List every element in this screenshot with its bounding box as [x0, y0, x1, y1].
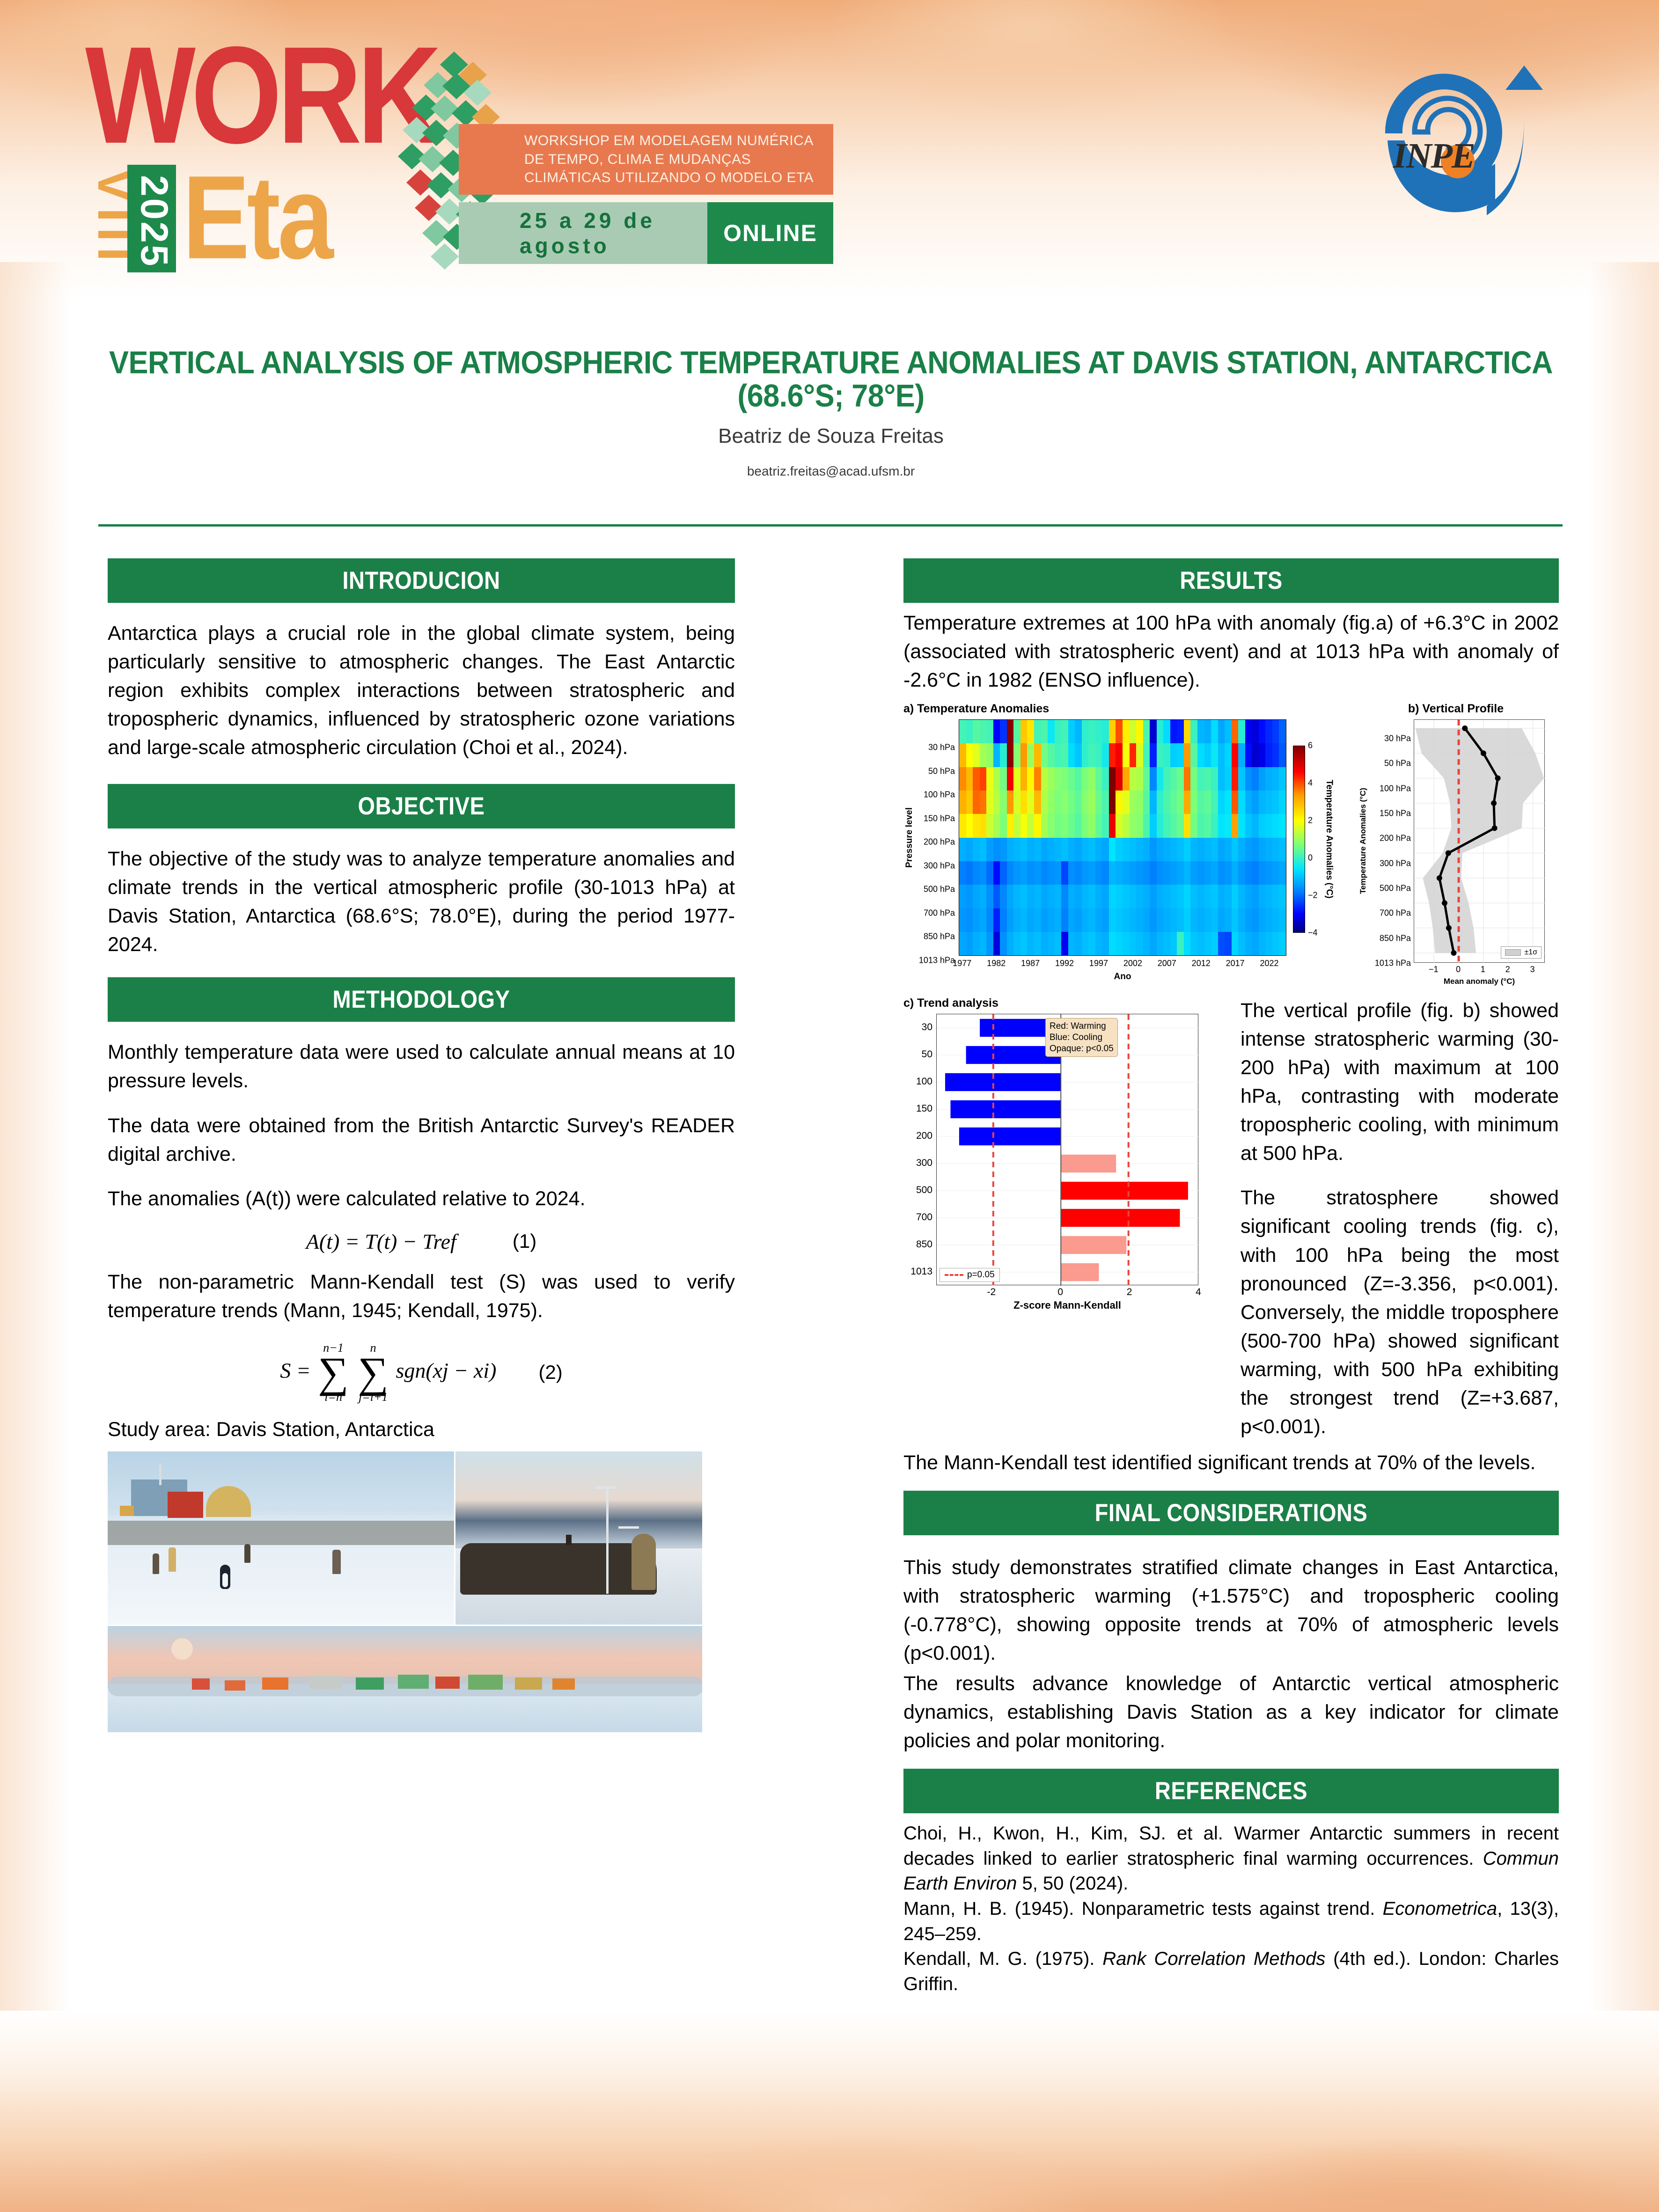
- vprofile-marker: [1462, 725, 1468, 731]
- trend-y-tick: 100: [916, 1076, 932, 1087]
- heatmap-cell: [1082, 791, 1089, 814]
- introduction-body: Antarctica plays a crucial role in the g…: [108, 619, 735, 762]
- heatmap-cell: [973, 743, 980, 767]
- heatmap-cell: [1034, 838, 1041, 861]
- heatmap-cell: [1116, 791, 1123, 814]
- heatmap-cell: [1061, 838, 1068, 861]
- logo-year-badge: 2025: [127, 165, 176, 272]
- heatmap-cell: [1225, 814, 1232, 837]
- heatmap-cell: [1259, 720, 1266, 743]
- heatmap-cell: [1163, 767, 1170, 791]
- figure-c-xlabel: Z-score Mann-Kendall: [936, 1299, 1198, 1311]
- heatmap-cell: [1075, 743, 1082, 767]
- heatmap-cell: [993, 743, 1000, 767]
- heatmap-cell: [1102, 861, 1109, 885]
- heatmap-cell: [1048, 720, 1055, 743]
- objective-body: The objective of the study was to analyz…: [108, 845, 735, 959]
- heatmap-cell: [1041, 908, 1048, 932]
- heatmap-cell: [1211, 743, 1218, 767]
- heatmap-cell: [1143, 838, 1150, 861]
- heatmap-cell: [1068, 767, 1075, 791]
- heatmap-cell: [1000, 720, 1007, 743]
- heatmap-cell: [1136, 720, 1143, 743]
- heatmap-cell: [1013, 791, 1020, 814]
- heatmap-cell: [1204, 791, 1211, 814]
- trend-bar: [959, 1128, 1061, 1145]
- heatmap-cell: [1259, 908, 1266, 932]
- heatmap-cell: [1020, 885, 1028, 908]
- figure-b-legend-label: ±1σ: [1524, 948, 1537, 957]
- heatmap-cell: [1123, 767, 1130, 791]
- heatmap-cell: [966, 720, 973, 743]
- heatmap-cell: [1013, 885, 1020, 908]
- heatmap-cell: [1197, 908, 1204, 932]
- heatmap-cell: [1252, 767, 1259, 791]
- right-column: RESULTS Temperature extremes at 100 hPa …: [903, 561, 1559, 1997]
- heatmap-cell: [1130, 767, 1137, 791]
- heatmap-cell: [1143, 720, 1150, 743]
- heatmap-cell: [1150, 720, 1157, 743]
- heatmap-cell: [1088, 838, 1095, 861]
- heatmap-cell: [1265, 861, 1272, 885]
- background-bottom-watercolor: [0, 2011, 1659, 2212]
- heatmap-cell: [1000, 838, 1007, 861]
- heatmap-cell: [1027, 861, 1034, 885]
- heatmap-cell: [1245, 908, 1252, 932]
- heatmap-cell: [1150, 743, 1157, 767]
- heatmap-cell: [1034, 743, 1041, 767]
- vprofile-marker: [1437, 875, 1442, 881]
- heatmap-cell: [1116, 838, 1123, 861]
- heatmap-cell: [1184, 932, 1191, 955]
- figure-a-ylabel: Pressure level: [903, 719, 916, 956]
- heatmap-cell: [1225, 838, 1232, 861]
- heatmap-cell: [1252, 885, 1259, 908]
- heatmap-cell: [1157, 814, 1164, 837]
- heatmap-cell: [1075, 720, 1082, 743]
- heatmap-cell: [1123, 908, 1130, 932]
- trend-y-tick: 150: [916, 1103, 932, 1114]
- heatmap-cell: [1075, 814, 1082, 837]
- heatmap-cell: [1190, 743, 1197, 767]
- heatmap-cell: [1163, 814, 1170, 837]
- heatmap-cell: [993, 908, 1000, 932]
- heatmap-cell: [1055, 791, 1062, 814]
- vprofile-marker: [1446, 925, 1452, 931]
- heatmap-cell: [1013, 814, 1020, 837]
- heatmap-cell: [993, 885, 1000, 908]
- heatmap-cell: [1123, 743, 1130, 767]
- heatmap-cell: [1163, 720, 1170, 743]
- heatmap-cell: [1157, 838, 1164, 861]
- heatmap-cell: [1061, 861, 1068, 885]
- heatmap-cell: [1232, 791, 1239, 814]
- heatmap-cell: [1007, 767, 1014, 791]
- heatmap-cell: [980, 885, 987, 908]
- heatmap-cell: [1272, 861, 1279, 885]
- heatmap-cell: [1143, 791, 1150, 814]
- heatmap-cell: [1157, 720, 1164, 743]
- heatmap-cell: [1000, 791, 1007, 814]
- sigma-glyph-2: ∑: [358, 1355, 389, 1390]
- heatmap-cell: [1123, 861, 1130, 885]
- heatmap-cell: [1020, 908, 1028, 932]
- heatmap-cell: [1272, 720, 1279, 743]
- heatmap-cell: [1013, 908, 1020, 932]
- vprofile-x-tick: 3: [1530, 965, 1535, 974]
- heatmap-cell: [1265, 814, 1272, 837]
- trend-y-tick: 1013: [910, 1266, 932, 1277]
- figure-c-y-ticks: 30501001502003005007008501013: [903, 1014, 936, 1285]
- heatmap-x-tick: 1982: [987, 959, 1006, 968]
- heatmap-cell: [993, 861, 1000, 885]
- heatmap-cell: [1259, 838, 1266, 861]
- pvalue-dashed-line-swatch: [945, 1274, 963, 1276]
- heatmap-cell: [1123, 814, 1130, 837]
- heatmap-cell: [1211, 720, 1218, 743]
- heatmap-cell: [1225, 908, 1232, 932]
- heatmap-cell: [1082, 861, 1089, 885]
- heatmap-cell: [1177, 838, 1184, 861]
- vprofile-x-tick: 0: [1456, 965, 1461, 974]
- heatmap-cell: [1252, 908, 1259, 932]
- vprofile-marker: [1446, 850, 1451, 856]
- results-paragraph-4: The Mann-Kendall test identified signifi…: [903, 1449, 1559, 1477]
- heatmap-cell: [1136, 885, 1143, 908]
- heatmap-cell: [1109, 885, 1116, 908]
- heatmap-cell: [1116, 861, 1123, 885]
- vprofile-marker: [1495, 776, 1501, 781]
- heatmap-cell: [1130, 814, 1137, 837]
- heatmap-cell: [1259, 767, 1266, 791]
- heatmap-cell: [1259, 932, 1266, 955]
- heatmap-cell: [959, 838, 966, 861]
- reference-1-part-a: Choi, H., Kwon, H., Kim, SJ. et al. Warm…: [903, 1823, 1559, 1869]
- heatmap-cell: [1245, 767, 1252, 791]
- heatmap-cell: [1041, 720, 1048, 743]
- heatmap-y-tick: 150 hPa: [924, 813, 955, 823]
- heatmap-cell: [973, 720, 980, 743]
- heatmap-cell: [986, 743, 993, 767]
- heatmap-cell: [1225, 720, 1232, 743]
- heatmap-cell: [1095, 743, 1102, 767]
- heatmap-cell: [1068, 743, 1075, 767]
- heatmap-cell: [1055, 908, 1062, 932]
- heatmap-row: [959, 791, 1286, 814]
- heatmap-cell: [1245, 885, 1252, 908]
- heatmap-cell: [1055, 743, 1062, 767]
- figure-c-plot-area: Red: Warming Blue: Cooling Opaque: p<0.0…: [936, 1014, 1198, 1285]
- heatmap-cell: [1163, 838, 1170, 861]
- heatmap-cell: [1150, 814, 1157, 837]
- heatmap-cell: [1143, 885, 1150, 908]
- heatmap-cell: [1034, 932, 1041, 955]
- vprofile-marker: [1491, 800, 1497, 806]
- colorbar-tick: −4: [1308, 928, 1318, 938]
- heatmap-cell: [1061, 932, 1068, 955]
- heatmap-cell: [1218, 791, 1225, 814]
- heatmap-cell: [1136, 743, 1143, 767]
- heatmap-cell: [966, 767, 973, 791]
- heatmap-cell: [1238, 743, 1245, 767]
- trend-x-tick: 4: [1196, 1287, 1201, 1298]
- heatmap-cell: [1238, 838, 1245, 861]
- heatmap-cell: [1136, 908, 1143, 932]
- heatmap-cell: [1225, 743, 1232, 767]
- heatmap-cell: [1197, 743, 1204, 767]
- heatmap-cell: [1020, 720, 1028, 743]
- heatmap-y-tick: 50 hPa: [928, 766, 955, 776]
- figure-c-x-ticks: -2024: [936, 1285, 1198, 1299]
- heatmap-cell: [1061, 743, 1068, 767]
- section-header-objective: OBJECTIVE: [108, 784, 735, 828]
- vprofile-y-tick: 700 hPa: [1380, 908, 1411, 918]
- vprofile-marker: [1451, 950, 1457, 956]
- heatmap-cell: [1204, 908, 1211, 932]
- heatmap-cell: [1177, 814, 1184, 837]
- heatmap-cell: [1068, 885, 1075, 908]
- heatmap-cell: [1048, 885, 1055, 908]
- heatmap-cell: [1279, 814, 1286, 837]
- heatmap-cell: [1068, 814, 1075, 837]
- reference-item-3: Kendall, M. G. (1975). Rank Correlation …: [903, 1947, 1559, 1997]
- banner-subtitle: WORKSHOP EM MODELAGEM NUMÉRICA DE TEMPO,…: [459, 124, 833, 195]
- heatmap-cell: [1163, 743, 1170, 767]
- heatmap-cell: [1027, 767, 1034, 791]
- colorbar-ticks: 6420−2−4: [1305, 746, 1324, 933]
- equation-2-rhs: sgn(xj − xi): [396, 1358, 496, 1382]
- heatmap-cell: [1245, 743, 1252, 767]
- heatmap-x-tick: 1977: [953, 959, 971, 968]
- heatmap-cell: [1279, 791, 1286, 814]
- heatmap-cell: [966, 908, 973, 932]
- vprofile-x-tick: 2: [1505, 965, 1510, 974]
- heatmap-cell: [966, 861, 973, 885]
- banner-dates: 25 a 29 de agosto: [459, 202, 707, 264]
- heatmap-row: [959, 908, 1286, 932]
- heatmap-cell: [1265, 791, 1272, 814]
- banner-text-block: WORKSHOP EM MODELAGEM NUMÉRICA DE TEMPO,…: [459, 124, 833, 264]
- heatmap-cell: [1184, 767, 1191, 791]
- heatmap-cell: [1204, 743, 1211, 767]
- heatmap-cell: [1279, 743, 1286, 767]
- heatmap-cell: [1075, 791, 1082, 814]
- heatmap-cell: [1190, 932, 1197, 955]
- heatmap-cell: [966, 743, 973, 767]
- heatmap-cell: [1184, 861, 1191, 885]
- heatmap-cell: [1109, 791, 1116, 814]
- heatmap-cell: [1184, 814, 1191, 837]
- heatmap-cell: [1238, 861, 1245, 885]
- heatmap-cell: [1279, 908, 1286, 932]
- heatmap-cell: [966, 932, 973, 955]
- heatmap-cell: [1020, 767, 1028, 791]
- heatmap-cell: [1007, 908, 1014, 932]
- figure-b-legend: ±1σ: [1501, 946, 1542, 959]
- trend-x-tick: 2: [1127, 1287, 1132, 1298]
- heatmap-cell: [1211, 791, 1218, 814]
- heatmap-cell: [1075, 861, 1082, 885]
- heatmap-cell: [959, 720, 966, 743]
- heatmap-cell: [1150, 932, 1157, 955]
- banner-mode-badge: ONLINE: [707, 202, 833, 264]
- summation-2-icon: n ∑ j=i+1: [358, 1341, 389, 1404]
- heatmap-cell: [1055, 838, 1062, 861]
- heatmap-cell: [980, 743, 987, 767]
- heatmap-cell: [1082, 720, 1089, 743]
- heatmap-cell: [1055, 932, 1062, 955]
- heatmap-cell: [1082, 743, 1089, 767]
- colorbar-tick: 2: [1308, 816, 1313, 826]
- heatmap-cell: [1279, 838, 1286, 861]
- colorbar-gradient: [1293, 746, 1305, 933]
- heatmap-cell: [1190, 814, 1197, 837]
- heatmap-cell: [980, 908, 987, 932]
- heatmap-cell: [1020, 838, 1028, 861]
- heatmap-cell: [1095, 932, 1102, 955]
- heatmap-cell: [1184, 885, 1191, 908]
- heatmap-cell: [1218, 743, 1225, 767]
- trend-y-tick: 200: [916, 1130, 932, 1142]
- heatmap-cell: [1068, 908, 1075, 932]
- heatmap-cell: [1190, 885, 1197, 908]
- heatmap-cell: [1116, 932, 1123, 955]
- heatmap-cell: [1211, 838, 1218, 861]
- heatmap-cell: [1143, 908, 1150, 932]
- heatmap-y-tick: 300 hPa: [924, 861, 955, 871]
- trend-bar: [1061, 1182, 1188, 1200]
- heatmap-cell: [1279, 767, 1286, 791]
- heatmap-cell: [1150, 861, 1157, 885]
- heatmap-cell: [1218, 814, 1225, 837]
- heatmap-cell: [1136, 767, 1143, 791]
- figure-a-y-ticks: 30 hPa50 hPa100 hPa150 hPa200 hPa300 hPa…: [916, 719, 959, 956]
- heatmap-cell: [1265, 885, 1272, 908]
- heatmap-cell: [1272, 932, 1279, 955]
- heatmap-y-tick: 100 hPa: [924, 790, 955, 800]
- heatmap-cell: [1116, 885, 1123, 908]
- heatmap-cell: [973, 932, 980, 955]
- heatmap-cell: [1123, 932, 1130, 955]
- heatmap-cell: [1265, 932, 1272, 955]
- heatmap-cell: [1157, 885, 1164, 908]
- trend-bar: [1061, 1155, 1116, 1172]
- heatmap-cell: [1218, 885, 1225, 908]
- heatmap-cell: [1204, 838, 1211, 861]
- section-header-introduction: INTRODUCION: [108, 558, 735, 603]
- heatmap-cell: [1177, 932, 1184, 955]
- heatmap-cell: [1157, 767, 1164, 791]
- heatmap-cell: [1225, 767, 1232, 791]
- heatmap-cell: [1095, 791, 1102, 814]
- heatmap-cell: [1252, 720, 1259, 743]
- heatmap-cell: [1020, 814, 1028, 837]
- heatmap-cell: [980, 791, 987, 814]
- vprofile-x-tick: −1: [1429, 965, 1439, 974]
- heatmap-x-tick: 2007: [1158, 959, 1176, 968]
- heatmap-cell: [1265, 908, 1272, 932]
- vprofile-y-tick: 150 hPa: [1380, 809, 1411, 819]
- section-header-final-considerations: FINAL CONSIDERATIONS: [903, 1491, 1559, 1535]
- summation-1-icon: n−1 ∑ i=n: [318, 1341, 349, 1404]
- heatmap-cell: [986, 885, 993, 908]
- heatmap-cell: [1190, 861, 1197, 885]
- heatmap-cell: [986, 767, 993, 791]
- heatmap-cell: [1218, 720, 1225, 743]
- heatmap-cell: [980, 932, 987, 955]
- sigma-glyph-1: ∑: [318, 1355, 349, 1390]
- heatmap-cell: [1197, 791, 1204, 814]
- heatmap-cell: [1102, 791, 1109, 814]
- heatmap-cell: [1061, 791, 1068, 814]
- heatmap-cell: [1170, 791, 1177, 814]
- heatmap-cell: [1007, 720, 1014, 743]
- heatmap-cell: [1245, 861, 1252, 885]
- heatmap-cell: [1218, 838, 1225, 861]
- heatmap-cell: [1116, 908, 1123, 932]
- heatmap-cell: [980, 838, 987, 861]
- heatmap-cell: [1197, 932, 1204, 955]
- heatmap-cell: [1082, 767, 1089, 791]
- figure-a-temperature-anomalies: a) Temperature Anomalies Pressure level …: [903, 702, 1353, 982]
- heatmap-cell: [1245, 791, 1252, 814]
- colorbar-tick: 4: [1308, 778, 1313, 788]
- heatmap-cell: [1095, 720, 1102, 743]
- methodology-paragraph-1: Monthly temperature data were used to ca…: [108, 1038, 735, 1095]
- trend-y-tick: 500: [916, 1185, 932, 1196]
- heatmap-cell: [1238, 908, 1245, 932]
- heatmap-cell: [959, 791, 966, 814]
- heatmap-cell: [1116, 814, 1123, 837]
- vprofile-y-tick: 200 hPa: [1380, 834, 1411, 843]
- heatmap-cell: [959, 743, 966, 767]
- heatmap-cell: [1177, 861, 1184, 885]
- heatmap-cell: [1238, 767, 1245, 791]
- heatmap-cell: [1232, 743, 1239, 767]
- heatmap-cell: [1150, 838, 1157, 861]
- methodology-paragraph-4: The non-parametric Mann-Kendall test (S)…: [108, 1268, 735, 1325]
- heatmap-cell: [959, 932, 966, 955]
- heatmap-cell: [1252, 743, 1259, 767]
- heatmap-cell: [1013, 743, 1020, 767]
- photo-weather-mast-and-observer: [455, 1451, 702, 1625]
- heatmap-cell: [1082, 932, 1089, 955]
- heatmap-cell: [1232, 767, 1239, 791]
- heatmap-cell: [1041, 791, 1048, 814]
- equation-1-row: A(t) = T(t) − Tref (1): [108, 1229, 735, 1254]
- heatmap-cell: [1177, 767, 1184, 791]
- inpe-logo: INPE: [1359, 47, 1565, 248]
- heatmap-cell: [1238, 720, 1245, 743]
- heatmap-cell: [1170, 767, 1177, 791]
- trend-bar: [1061, 1209, 1180, 1227]
- heatmap-cell: [1272, 814, 1279, 837]
- heatmap-cell: [1088, 767, 1095, 791]
- heatmap-cell: [1204, 814, 1211, 837]
- heatmap-cell: [1048, 861, 1055, 885]
- heatmap-cell: [1204, 767, 1211, 791]
- trend-y-tick: 300: [916, 1157, 932, 1169]
- heatmap-cell: [1068, 861, 1075, 885]
- vprofile-y-tick: 30 hPa: [1384, 734, 1411, 744]
- figure-a-plot-area: [959, 719, 1286, 956]
- heatmap-cell: [959, 861, 966, 885]
- heatmap-cell: [1130, 791, 1137, 814]
- heatmap-cell: [1034, 861, 1041, 885]
- heatmap-cell: [1177, 885, 1184, 908]
- vprofile-marker: [1442, 900, 1447, 906]
- vprofile-y-tick: 300 hPa: [1380, 858, 1411, 868]
